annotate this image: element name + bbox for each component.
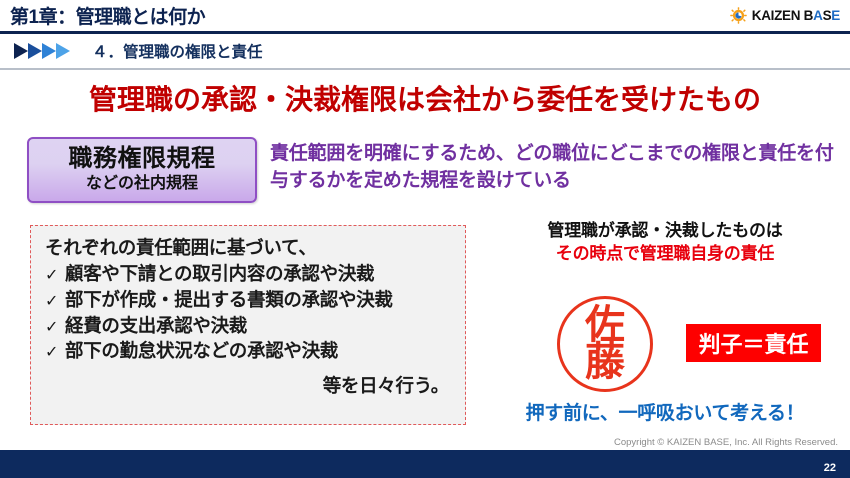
- main-title: 管理職の承認・決裁権限は会社から委任を受けたもの: [0, 78, 850, 118]
- check-icon: ✓: [45, 291, 65, 313]
- list-item-label: 経費の支出承認や決裁: [65, 313, 247, 338]
- chapter-header: 第1章：管理職とは何か: [0, 0, 850, 31]
- regulation-box-subtitle: などの社内規程: [86, 174, 198, 193]
- regulation-box-title: 職務権限規程: [69, 146, 216, 172]
- section-divider-gray: [0, 68, 850, 70]
- section-title: ４．管理職の権限と責任: [92, 40, 263, 62]
- list-item: ✓ 部下が作成・提出する書類の承認や決裁: [45, 287, 465, 313]
- hanko-stamp-icon: 佐 藤: [557, 296, 653, 392]
- list-closing-text: 等を日々行う。: [45, 372, 465, 398]
- list-item-label: 顧客や下請との取引内容の承認や決裁: [65, 261, 374, 286]
- list-item: ✓ 経費の支出承認や決裁: [45, 313, 465, 339]
- logo-text-part1: KAIZEN B: [752, 8, 813, 23]
- list-item: ✓ 部下の勤怠状況などの承認や決裁: [45, 338, 465, 364]
- gear-icon: [730, 7, 747, 24]
- page-number: 22: [824, 462, 836, 474]
- logo-text-part2: S: [823, 8, 832, 23]
- list-intro-text: それぞれの責任範囲に基づいて、: [45, 236, 465, 259]
- kaizen-base-logo: KAIZEN BASE: [730, 7, 840, 24]
- chevron-arrows-icon: [14, 42, 78, 60]
- header-divider-navy: [0, 31, 850, 34]
- closing-advice-text: 押す前に、一呼吸おいて考える！: [480, 398, 850, 425]
- list-item-label: 部下が作成・提出する書類の承認や決裁: [65, 287, 393, 312]
- check-icon: ✓: [45, 317, 65, 339]
- logo-text-e: E: [831, 8, 840, 23]
- copyright-text: Copyright © KAIZEN BASE, Inc. All Rights…: [614, 437, 838, 448]
- responsibility-statement: 管理職が承認・決裁したものは その時点で管理職自身の責任: [480, 220, 850, 266]
- hanko-char-bottom: 藤: [585, 344, 625, 381]
- responsibility-statement-line1: 管理職が承認・決裁したものは: [480, 220, 850, 243]
- chapter-title: 第1章：管理職とは何か: [10, 2, 205, 29]
- footer-bar: [0, 450, 850, 478]
- regulation-description: 責任範囲を明確にするため、どの職位にどこまでの権限と責任を付与するかを定めた規程…: [270, 141, 850, 195]
- slide-canvas: 第1章：管理職とは何か: [0, 0, 850, 478]
- logo-text-a: A: [813, 8, 822, 23]
- list-item-label: 部下の勤怠状況などの承認や決裁: [65, 338, 338, 363]
- section-header: ４．管理職の権限と責任: [0, 36, 850, 66]
- responsibility-statement-line2: その時点で管理職自身の責任: [480, 243, 850, 266]
- list-item: ✓ 顧客や下請との取引内容の承認や決裁: [45, 261, 465, 287]
- logo-wordmark: KAIZEN BASE: [752, 8, 840, 23]
- stamp-equals-responsibility-badge: 判子＝責任: [686, 324, 821, 362]
- check-icon: ✓: [45, 342, 65, 364]
- check-icon: ✓: [45, 265, 65, 287]
- responsibility-list-box: それぞれの責任範囲に基づいて、 ✓ 顧客や下請との取引内容の承認や決裁 ✓ 部下…: [30, 225, 466, 425]
- regulation-callout-box: 職務権限規程 などの社内規程: [27, 137, 257, 203]
